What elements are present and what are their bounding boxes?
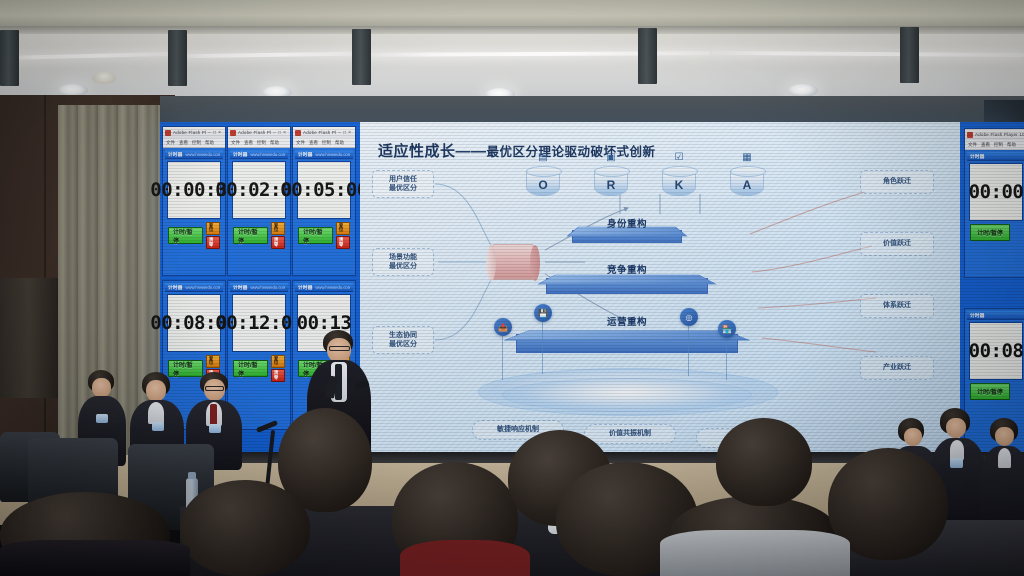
bottom-tag-value-resonance: 价值共振机制 <box>584 424 676 444</box>
menu-item-help[interactable]: 帮助 <box>205 140 214 146</box>
pyramid-layer-competition <box>546 278 708 294</box>
timer-header: 计时器 www.hnwsedu.com <box>295 283 353 292</box>
menu-item-control[interactable]: 控制 <box>994 142 1003 148</box>
timer-window-body: 计时器 www.hnwsedu.com 00:12:00 计时/暂停 复位 清零 <box>228 281 290 386</box>
okra-letter: A <box>743 178 752 195</box>
ceiling-speaker <box>0 30 19 86</box>
timer-controls: 计时/暂停 <box>967 382 1024 402</box>
conference-room-photo: Adobe Flash Player 10 −□× 文件 查看 控制 帮助 计时… <box>0 0 1024 576</box>
timer-header: 计时器 www.hnwsedu.com <box>230 283 288 292</box>
led-video-wall: Adobe Flash Player 10 −□× 文件 查看 控制 帮助 计时… <box>160 122 1024 454</box>
timer-header-sub: www.hnwsedu.com <box>315 285 350 290</box>
timer-display: 00:02:00 <box>232 161 286 219</box>
judge-badge <box>950 458 963 468</box>
judge-face <box>995 427 1014 446</box>
right-tag-industry-leap: 产业跃迁 <box>860 356 934 380</box>
tag-label: 敏捷响应机制 <box>497 425 539 434</box>
ceiling-soffit <box>0 0 1024 26</box>
panelist-badge <box>152 422 164 431</box>
audience-head <box>716 418 812 506</box>
judge-face <box>904 428 922 446</box>
tag-label: 体系跃迁 <box>883 301 911 310</box>
reset-button[interactable]: 复位 <box>271 222 285 235</box>
panelist-face <box>146 380 166 402</box>
timer-header: 计时器 www.hnwsedu.com <box>165 283 223 292</box>
window-controls[interactable]: −□× <box>273 130 288 136</box>
timer-menubar[interactable]: 文件 查看 控制 帮助 <box>228 138 290 148</box>
timer-display: 00:12:00 <box>232 294 286 352</box>
menu-item-view[interactable]: 查看 <box>179 140 188 146</box>
badge-pin-line <box>502 336 503 380</box>
timer-menubar[interactable]: 文件 查看 控制 帮助 <box>965 140 1024 150</box>
save-icon: 💾 <box>534 304 552 322</box>
timer-header: 计时器 <box>967 311 1024 320</box>
timer-controls: 计时/暂停 复位 清零 <box>165 221 223 251</box>
timer-window-titlebar[interactable]: Adobe Flash Player 10 −□× <box>163 127 225 138</box>
timer-window-titlebar[interactable]: Adobe Flash Player 10 −□× <box>228 127 290 138</box>
led-strip-light <box>0 52 170 60</box>
app-icon <box>165 130 171 136</box>
window-title: Adobe Flash Player 10 <box>303 130 336 135</box>
start-pause-button[interactable]: 计时/暂停 <box>168 227 203 244</box>
tag-label: 角色跃迁 <box>883 177 911 186</box>
panelist-face <box>92 378 111 398</box>
grid-icon: ▦ <box>742 152 751 163</box>
timer-header-label: 计时器 <box>298 151 312 158</box>
reset-button[interactable]: 复位 <box>206 222 220 235</box>
okra-cylinder: ▣ R <box>594 170 628 196</box>
right-tag-system-leap: 体系跃迁 <box>860 294 934 318</box>
timer-header-sub: www.hnwsedu.com <box>185 152 220 157</box>
menu-item-file[interactable]: 文件 <box>968 142 977 148</box>
pyramid-layer-operations <box>516 334 738 353</box>
side-podium <box>0 278 58 398</box>
timer-header: 计时器 www.hnwsedu.com <box>295 150 353 159</box>
audience-shoulders <box>0 540 190 576</box>
tag-label: 价值共振机制 <box>609 429 651 438</box>
timer-menubar[interactable]: 文件 查看 控制 帮助 <box>163 138 225 148</box>
menu-item-help[interactable]: 帮助 <box>335 140 344 146</box>
tag-line-2: 最优区分 <box>389 262 417 271</box>
timer-header-label: 计时器 <box>233 284 247 291</box>
timer-window[interactable]: Adobe Flash Player 10 −□× 文件 查看 控制 帮助 计时… <box>227 126 291 276</box>
timer-header-label: 计时器 <box>168 151 182 158</box>
slide-title-main: 适应性成长—— <box>378 143 487 160</box>
checkbox-icon: ☑ <box>675 152 684 163</box>
menu-item-help[interactable]: 帮助 <box>1007 142 1016 148</box>
window-title: Adobe Flash Player 10 <box>975 132 1024 137</box>
badge-pin-line <box>688 326 689 376</box>
panelist-badge <box>96 414 108 423</box>
timer-controls: 计时/暂停 <box>967 223 1024 243</box>
reset-button[interactable]: 复位 <box>336 222 350 235</box>
menu-item-view[interactable]: 查看 <box>309 140 318 146</box>
timer-window[interactable]: Adobe Flash Player 10 −□× 文件 查看 控制 帮助 计时… <box>292 126 356 276</box>
timer-header-sub: www.hnwsedu.com <box>185 285 220 290</box>
timer-header: 计时器 www.hnwsedu.com <box>230 150 288 159</box>
tag-line-1: 生态协同 <box>389 331 417 340</box>
judge-shirt <box>950 440 964 460</box>
judge <box>980 418 1024 536</box>
timer-controls: 计时/暂停 复位 清零 <box>230 221 288 251</box>
timer-header-label: 计时器 <box>970 312 984 319</box>
okra-letter: O <box>538 178 547 195</box>
menu-item-control[interactable]: 控制 <box>257 140 266 146</box>
menu-item-control[interactable]: 控制 <box>192 140 201 146</box>
start-pause-button[interactable]: 计时/暂停 <box>233 227 268 244</box>
menu-item-view[interactable]: 查看 <box>244 140 253 146</box>
timer-cluster-right: Adobe Flash Player 10 文件 查看 控制 帮助 计时器 00… <box>960 122 1024 454</box>
timer-window-body: 计时器 www.hnwsedu.com 00:05:00 计时/暂停 复位 清零 <box>293 148 355 253</box>
clear-button[interactable]: 清零 <box>271 236 285 249</box>
timer-window-titlebar[interactable]: Adobe Flash Player 10 <box>965 129 1024 140</box>
audience-grey-shoulders <box>660 530 850 576</box>
badge-pin-line <box>726 338 727 380</box>
timer-display: 00:08:00 <box>167 294 221 352</box>
app-icon <box>230 130 236 136</box>
right-tag-role-leap: 角色跃迁 <box>860 170 934 194</box>
clear-button[interactable]: 清零 <box>271 369 285 382</box>
tag-line-2: 最优区分 <box>389 184 417 193</box>
timer-menubar[interactable]: 文件 查看 控制 帮助 <box>293 138 355 148</box>
timer-display: 00:00:30 <box>167 161 221 219</box>
timer-header-label: 计时器 <box>233 151 247 158</box>
panelist-tie <box>210 404 217 426</box>
tag-line-1: 场景功能 <box>389 253 417 262</box>
menu-item-file[interactable]: 文件 <box>166 140 175 146</box>
panelist-shirt <box>148 402 164 424</box>
timer-header-sub: www.hnwsedu.com <box>250 285 285 290</box>
timer-mini-buttons: 复位 清零 <box>336 222 350 249</box>
start-pause-button[interactable]: 计时/暂停 <box>970 224 1010 241</box>
audience-head <box>180 480 310 576</box>
timer-header-label: 计时器 <box>168 284 182 291</box>
ceiling-shadow-line <box>0 26 1024 34</box>
timer-display: 00:05:00 <box>297 161 351 219</box>
timer-controls: 计时/暂停 复位 清零 <box>295 221 353 251</box>
window-title: Adobe Flash Player 10 <box>173 130 206 135</box>
prism-graphic <box>490 244 536 280</box>
timer-mini-buttons: 复位 清零 <box>271 222 285 249</box>
timer-mini-buttons: 复位 清零 <box>271 355 285 382</box>
judge-face <box>946 418 966 438</box>
okra-cylinder: ☑ K <box>662 170 696 196</box>
pyramid-label-identity: 身份重构 <box>532 216 722 230</box>
timer-window-titlebar[interactable]: Adobe Flash Player 10 −□× <box>293 127 355 138</box>
timer-window-body: 计时器 00:08 计时/暂停 <box>965 309 1024 404</box>
tag-line-1: 用户信任 <box>389 175 417 184</box>
timer-window-body: 计时器 00:00 计时/暂停 <box>965 150 1024 245</box>
app-icon <box>967 132 973 138</box>
ceiling-speaker <box>638 28 657 84</box>
pyramid-base-glow <box>502 378 752 412</box>
timer-header-sub: www.hnwsedu.com <box>250 152 285 157</box>
panelist-badge <box>209 424 221 433</box>
app-icon <box>295 130 301 136</box>
led-strip-light <box>175 52 355 59</box>
store-icon: 🏪 <box>718 320 736 338</box>
document-share-icon: 📤 <box>494 318 512 336</box>
menu-item-help[interactable]: 帮助 <box>270 140 279 146</box>
bottle-cap <box>188 472 196 479</box>
window-controls[interactable]: −□× <box>338 130 353 136</box>
timer-header-sub: www.hnwsedu.com <box>315 152 350 157</box>
okra-letter: R <box>607 178 616 195</box>
timer-window[interactable]: Adobe Flash Player 10 文件 查看 控制 帮助 计时器 00… <box>964 128 1024 278</box>
audience-red-collar <box>400 540 530 576</box>
right-tag-value-leap: 价值跃迁 <box>860 232 934 256</box>
pyramid-label-competition: 竞争重构 <box>532 262 722 276</box>
timer-display: 00:08 <box>969 322 1023 380</box>
timer-header: 计时器 www.hnwsedu.com <box>165 150 223 159</box>
pyramid-layer-identity <box>572 230 682 243</box>
clear-button[interactable]: 清零 <box>206 236 220 249</box>
reset-button[interactable]: 复位 <box>206 355 220 368</box>
menu-item-control[interactable]: 控制 <box>322 140 331 146</box>
presentation-slide: 适应性成长——最优区分理论驱动破坏式创新 <box>360 122 960 454</box>
ceiling-speaker <box>900 27 919 83</box>
start-pause-button[interactable]: 计时/暂停 <box>970 383 1010 400</box>
okra-cylinder: ▤ O <box>526 170 560 196</box>
presenter-glasses <box>329 346 350 351</box>
tag-label: 价值跃迁 <box>883 239 911 248</box>
timer-mini-buttons: 复位 清零 <box>206 222 220 249</box>
reset-button[interactable]: 复位 <box>271 355 285 368</box>
left-tag-user-trust: 用户信任 最优区分 <box>372 170 434 198</box>
timer-header-label: 计时器 <box>970 153 984 160</box>
tag-line-2: 最优区分 <box>389 340 417 349</box>
okra-letter: K <box>675 178 684 195</box>
smoke-detector <box>92 72 116 84</box>
led-strip-light <box>360 51 710 57</box>
okra-cylinder: ▦ A <box>730 170 764 196</box>
timer-header: 计时器 <box>967 152 1024 161</box>
left-tag-scenario-function: 场景功能 最优区分 <box>372 248 434 276</box>
menu-item-view[interactable]: 查看 <box>981 142 990 148</box>
pyramid-layer-top <box>504 331 751 341</box>
window-controls[interactable]: −□× <box>208 130 223 136</box>
database-icon: ▤ <box>538 152 547 163</box>
tag-label: 产业跃迁 <box>883 363 911 372</box>
slide-title-sub: 最优区分理论驱动破坏式创新 <box>487 145 656 159</box>
judge-shirt <box>998 448 1011 468</box>
timer-display: 00:00 <box>969 163 1023 221</box>
start-pause-button[interactable]: 计时/暂停 <box>298 227 333 244</box>
menu-item-file[interactable]: 文件 <box>231 140 240 146</box>
left-tag-ecosystem-synergy: 生态协同 最优区分 <box>372 326 434 354</box>
ceiling-speaker <box>352 29 371 85</box>
clear-button[interactable]: 清零 <box>336 236 350 249</box>
server-icon: ▣ <box>606 152 615 163</box>
timer-header-label: 计时器 <box>298 284 312 291</box>
badge-pin-line <box>542 322 543 374</box>
window-title: Adobe Flash Player 10 <box>238 130 271 135</box>
target-icon: ◎ <box>680 308 698 326</box>
timer-window[interactable]: Adobe Flash Player 10 −□× 文件 查看 控制 帮助 计时… <box>162 126 226 276</box>
menu-item-file[interactable]: 文件 <box>296 140 305 146</box>
ceiling-speaker <box>168 30 187 86</box>
pyramid-layer-top <box>537 275 717 285</box>
led-strip-light <box>712 51 1024 57</box>
panelist-glasses <box>205 386 224 391</box>
